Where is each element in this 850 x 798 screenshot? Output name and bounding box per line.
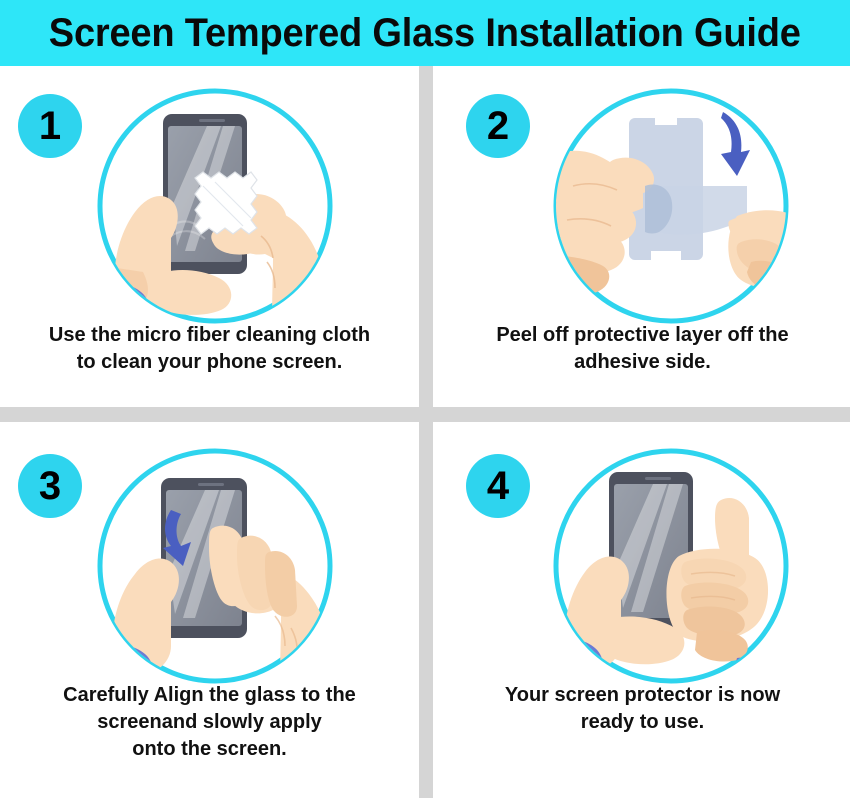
header-banner: Screen Tempered Glass Installation Guide (0, 0, 850, 66)
step-illustration-3 (95, 446, 335, 686)
step-panel-4: 4 (433, 422, 850, 798)
step-number-label: 2 (487, 106, 509, 146)
divider-horizontal (0, 407, 850, 422)
step-caption-3: Carefully Align the glass to the screena… (10, 682, 409, 763)
step-panel-3: 3 (0, 422, 419, 798)
page-title: Screen Tempered Glass Installation Guide (49, 13, 801, 53)
step-number-label: 1 (39, 106, 61, 146)
step-badge-1: 1 (18, 94, 82, 158)
step-number-label: 4 (487, 466, 509, 506)
installation-guide-page: Screen Tempered Glass Installation Guide… (0, 0, 850, 798)
step-panel-1: 1 (0, 66, 419, 407)
step-panel-2: 2 (433, 66, 850, 407)
step-number-label: 3 (39, 466, 61, 506)
step-caption-1: Use the micro fiber cleaning cloth to cl… (10, 322, 409, 376)
step-caption-2: Peel off protective layer off the adhesi… (443, 322, 842, 376)
step-badge-3: 3 (18, 454, 82, 518)
step-illustration-4 (551, 446, 791, 686)
step-caption-4: Your screen protector is now ready to us… (443, 682, 842, 736)
divider-vertical (419, 66, 433, 798)
step-illustration-2 (551, 86, 791, 326)
cleaning-cloth (195, 172, 257, 234)
step-badge-2: 2 (466, 94, 530, 158)
step-illustration-1 (95, 86, 335, 326)
step-badge-4: 4 (466, 454, 530, 518)
